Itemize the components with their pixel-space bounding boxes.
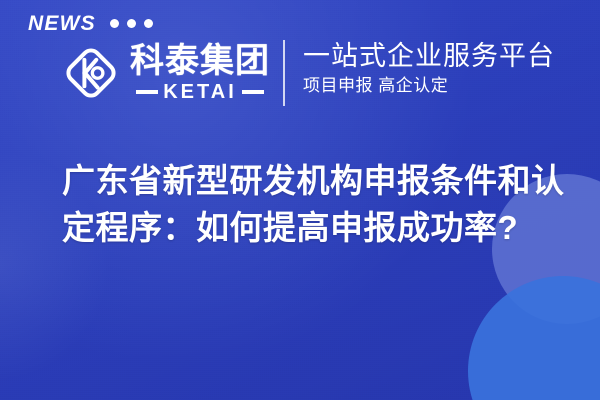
dot-icon <box>144 19 153 28</box>
brand-logo-lockup: 科泰集团 KETAI <box>58 40 270 106</box>
tagline-secondary: 项目申报 高企认定 <box>303 76 555 96</box>
ellipsis-dots-icon <box>110 19 153 28</box>
dot-icon <box>110 19 119 28</box>
vertical-divider <box>283 40 285 106</box>
rule-right <box>242 90 264 94</box>
eyebrow-row: NEWS <box>28 13 153 34</box>
rule-left <box>136 90 158 94</box>
news-label: NEWS <box>28 13 96 34</box>
ketai-diamond-k-logo-icon <box>58 40 124 106</box>
brand-name-cn: 科泰集团 <box>130 44 270 78</box>
tagline-primary: 一站式企业服务平台 <box>303 41 555 71</box>
headline-line-1: 广东省新型研发机构申报条件和认 <box>62 158 562 205</box>
brand-name-en: KETAI <box>163 82 237 102</box>
dot-icon <box>127 19 136 28</box>
brand-name-en-row: KETAI <box>136 82 264 102</box>
tagline-block: 一站式企业服务平台 项目申报 高企认定 <box>303 41 555 97</box>
news-banner: NEWS 科泰集团 KETAI 一站式企业服务平台 <box>0 0 600 400</box>
headline: 广东省新型研发机构申报条件和认 定程序：如何提高申报成功率? <box>62 158 562 252</box>
headline-line-2: 定程序：如何提高申报成功率? <box>62 205 562 252</box>
brand-wordmark: 科泰集团 KETAI <box>130 44 270 102</box>
